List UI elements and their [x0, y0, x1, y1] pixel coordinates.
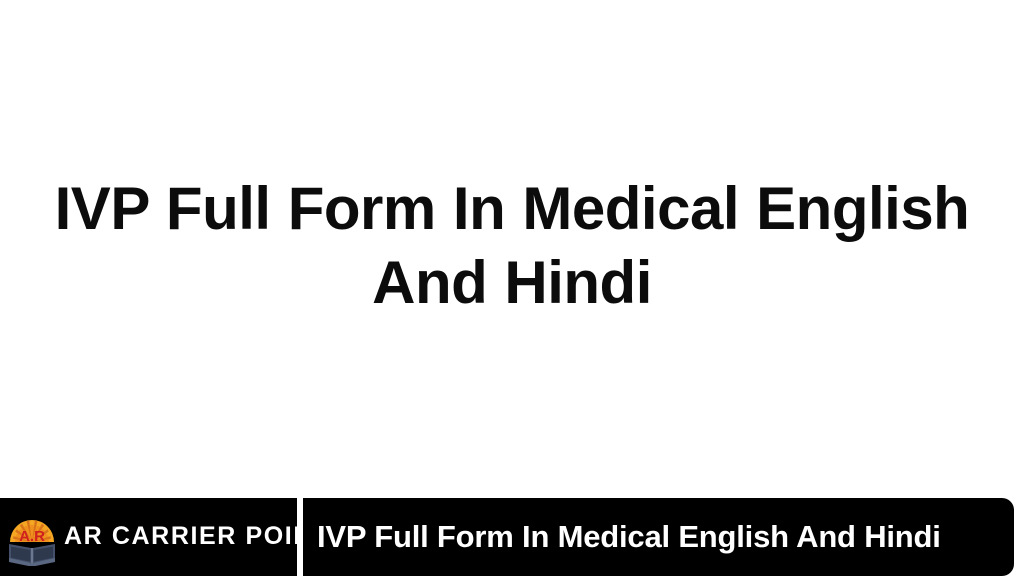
page-root: IVP Full Form In Medical English And Hin…: [0, 0, 1024, 576]
svg-text:A.R: A.R: [19, 528, 45, 545]
footer-caption-text: IVP Full Form In Medical English And Hin…: [317, 521, 941, 554]
footer: A.R AR CARRIER POINT IVP Full Form In Me…: [0, 498, 1024, 576]
brand-name: AR CARRIER POINT: [64, 524, 297, 551]
sunburst-book-logo-icon: A.R: [6, 508, 58, 566]
brand-bar[interactable]: A.R AR CARRIER POINT: [0, 498, 297, 576]
footer-caption-bar: IVP Full Form In Medical English And Hin…: [303, 498, 1014, 576]
hero-section: IVP Full Form In Medical English And Hin…: [0, 0, 1024, 492]
page-title: IVP Full Form In Medical English And Hin…: [2, 172, 1022, 320]
